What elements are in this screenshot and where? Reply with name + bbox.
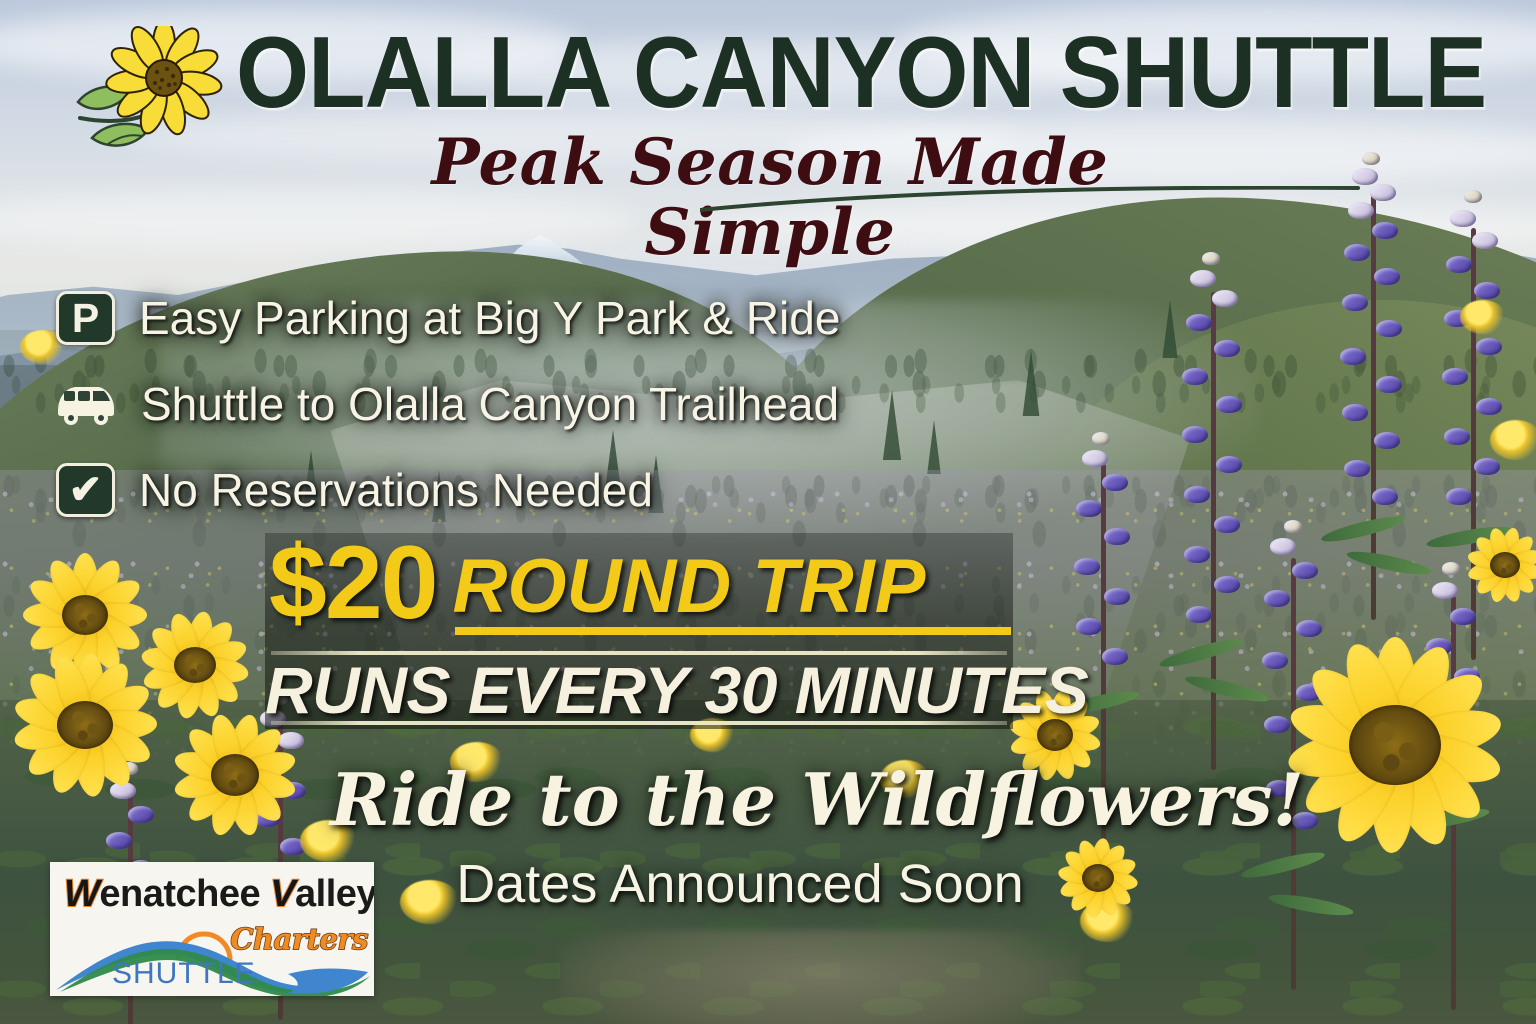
logo-name-part2: alley	[295, 873, 374, 915]
schedule-label: RUNS EVERY 30 MINUTES	[265, 659, 1013, 721]
yellow-flower-cluster	[1490, 420, 1536, 460]
logo-charters-text: Charters	[230, 924, 368, 954]
logo-wordmark: Wenatchee Valley	[64, 870, 364, 920]
price-label-wrap: ROUND TRIP	[453, 549, 926, 631]
feature-label: No Reservations Needed	[139, 465, 653, 515]
logo-name-part1: enatchee	[99, 873, 260, 915]
sunflower-bloom-large	[1270, 620, 1520, 870]
tagline-secondary: Dates Announced Soon	[330, 855, 1150, 913]
logo-name-text: Wenatchee Valley	[64, 870, 364, 918]
feature-item-shuttle: Shuttle to Olalla Canyon Trailhead	[56, 368, 916, 440]
logo-shuttle-text: SHUTTLE	[112, 958, 256, 990]
round-trip-label: ROUND TRIP	[453, 549, 926, 625]
dirt-trail	[560, 930, 1080, 1024]
parking-badge-icon: P	[56, 291, 115, 345]
wildflower-shuttle-poster: OLALLA CANYON SHUTTLE Peak Season Made S…	[0, 0, 1536, 1024]
page-title: OLALLA CANYON SHUTTLE	[236, 20, 1278, 130]
feature-item-parking: P Easy Parking at Big Y Park & Ride	[56, 282, 916, 354]
sunflower-bloom	[0, 640, 170, 810]
wenatchee-valley-charters-logo: Wenatchee Valley Charters SHUTTLE	[50, 862, 374, 996]
leaf-stem-flourish-icon	[700, 186, 1360, 216]
logo-v-cap: V	[270, 873, 295, 915]
checkmark-badge-glyph: ✔	[69, 470, 103, 511]
lupine-spike	[1170, 250, 1256, 770]
feature-label: Shuttle to Olalla Canyon Trailhead	[141, 379, 839, 429]
shuttle-van-icon	[55, 381, 117, 427]
feature-label: Easy Parking at Big Y Park & Ride	[139, 293, 840, 343]
feature-list: P Easy Parking at Big Y Park & Ride Shu	[56, 282, 916, 540]
price-row: $20 ROUND TRIP	[265, 533, 1013, 631]
sunflower-bloom	[1460, 520, 1536, 610]
price-schedule-block: $20 ROUND TRIP RUNS EVERY 30 MINUTES	[265, 533, 1013, 729]
feature-item-reservations: ✔ No Reservations Needed	[56, 454, 916, 526]
parking-badge-glyph: P	[72, 298, 99, 339]
price-amount: $20	[265, 535, 437, 631]
price-underline	[455, 627, 1011, 635]
tagline-primary: Ride to the Wildflowers!	[330, 760, 1150, 840]
logo-w-cap: W	[64, 873, 99, 915]
checkmark-badge-icon: ✔	[56, 463, 115, 517]
yellow-flower-cluster	[1460, 300, 1506, 334]
sunflower-icon	[72, 26, 262, 176]
divider-rule-bottom	[271, 721, 1007, 725]
lupine-spike	[1330, 150, 1416, 620]
